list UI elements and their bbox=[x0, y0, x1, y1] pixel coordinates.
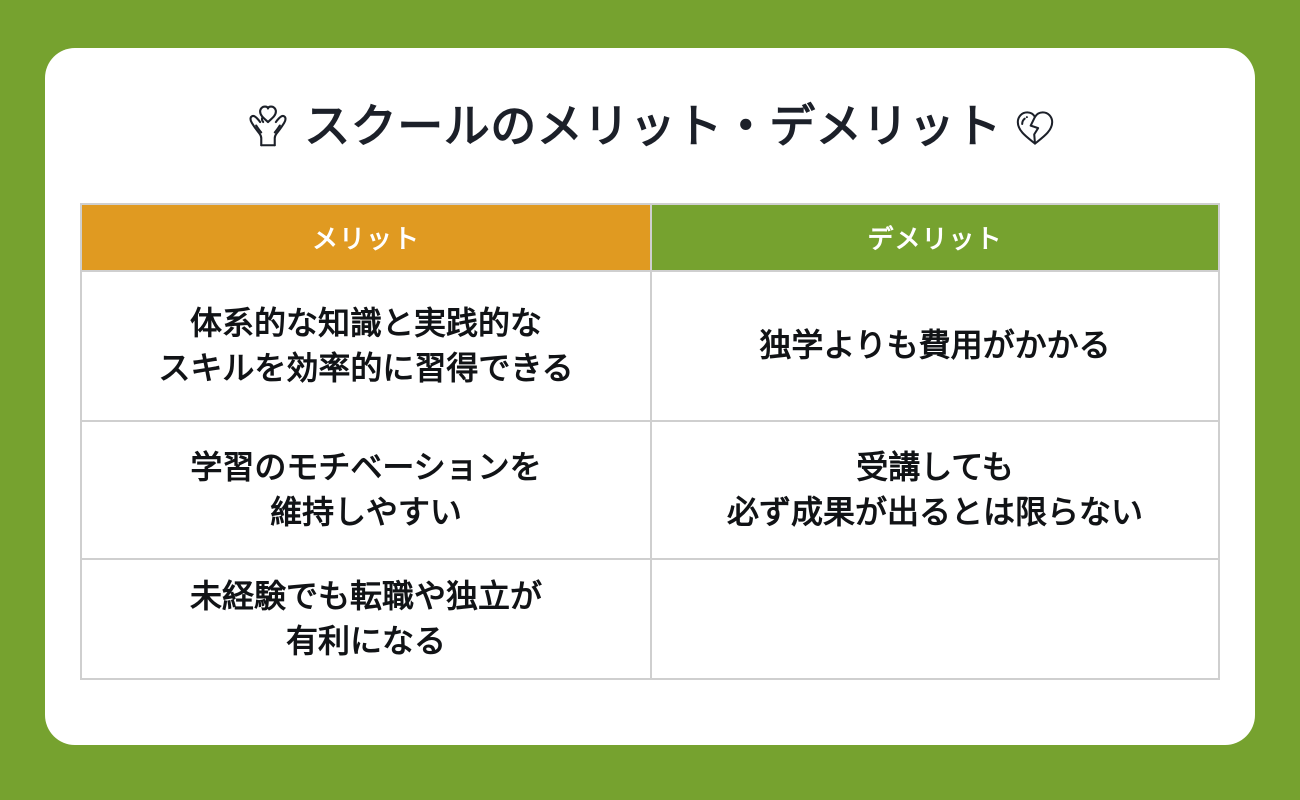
slide-canvas: スクールのメリット・デメリット メリット デメリット bbox=[0, 0, 1300, 800]
cell-merit-2: 学習のモチベーションを 維持しやすい bbox=[81, 421, 651, 559]
table-header: メリット デメリット bbox=[81, 204, 1219, 271]
table-body: 体系的な知識と実践的な スキルを効率的に習得できる 独学よりも費用がかかる 学習… bbox=[81, 271, 1219, 679]
cell-line: 未経験でも転職や独立が bbox=[92, 574, 640, 619]
page-title: スクールのメリット・デメリット bbox=[45, 86, 1255, 166]
table-header-row: メリット デメリット bbox=[81, 204, 1219, 271]
cell-demerit-2: 受講しても 必ず成果が出るとは限らない bbox=[651, 421, 1219, 559]
cell-line: 体系的な知識と実践的な bbox=[92, 301, 640, 346]
cell-line: 学習のモチベーションを bbox=[92, 445, 640, 490]
cell-line: 独学よりも費用がかかる bbox=[662, 323, 1208, 368]
cell-demerit-1: 独学よりも費用がかかる bbox=[651, 271, 1219, 421]
column-header-merit: メリット bbox=[81, 204, 651, 271]
table-row: 学習のモチベーションを 維持しやすい 受講しても 必ず成果が出るとは限らない bbox=[81, 421, 1219, 559]
table-row: 未経験でも転職や独立が 有利になる bbox=[81, 559, 1219, 679]
cell-line: 有利になる bbox=[92, 619, 640, 664]
cell-merit-3: 未経験でも転職や独立が 有利になる bbox=[81, 559, 651, 679]
cell-line: 維持しやすい bbox=[92, 490, 640, 535]
column-header-demerit: デメリット bbox=[651, 204, 1219, 271]
cell-demerit-3-empty bbox=[651, 559, 1219, 679]
cell-line: 必ず成果が出るとは限らない bbox=[662, 490, 1208, 535]
cell-merit-1: 体系的な知識と実践的な スキルを効率的に習得できる bbox=[81, 271, 651, 421]
content-card: スクールのメリット・デメリット メリット デメリット bbox=[45, 48, 1255, 745]
cell-line: スキルを効率的に習得できる bbox=[92, 346, 640, 391]
merit-demerit-table: メリット デメリット 体系的な知識と実践的な スキルを効率的に習得できる 独学よ… bbox=[80, 203, 1220, 680]
cell-line: 受講しても bbox=[662, 445, 1208, 490]
title-text: スクールのメリット・デメリット bbox=[304, 103, 1002, 149]
table-row: 体系的な知識と実践的な スキルを効率的に習得できる 独学よりも費用がかかる bbox=[81, 271, 1219, 421]
broken-heart-icon bbox=[1010, 101, 1060, 151]
heart-in-hands-icon bbox=[240, 98, 296, 154]
